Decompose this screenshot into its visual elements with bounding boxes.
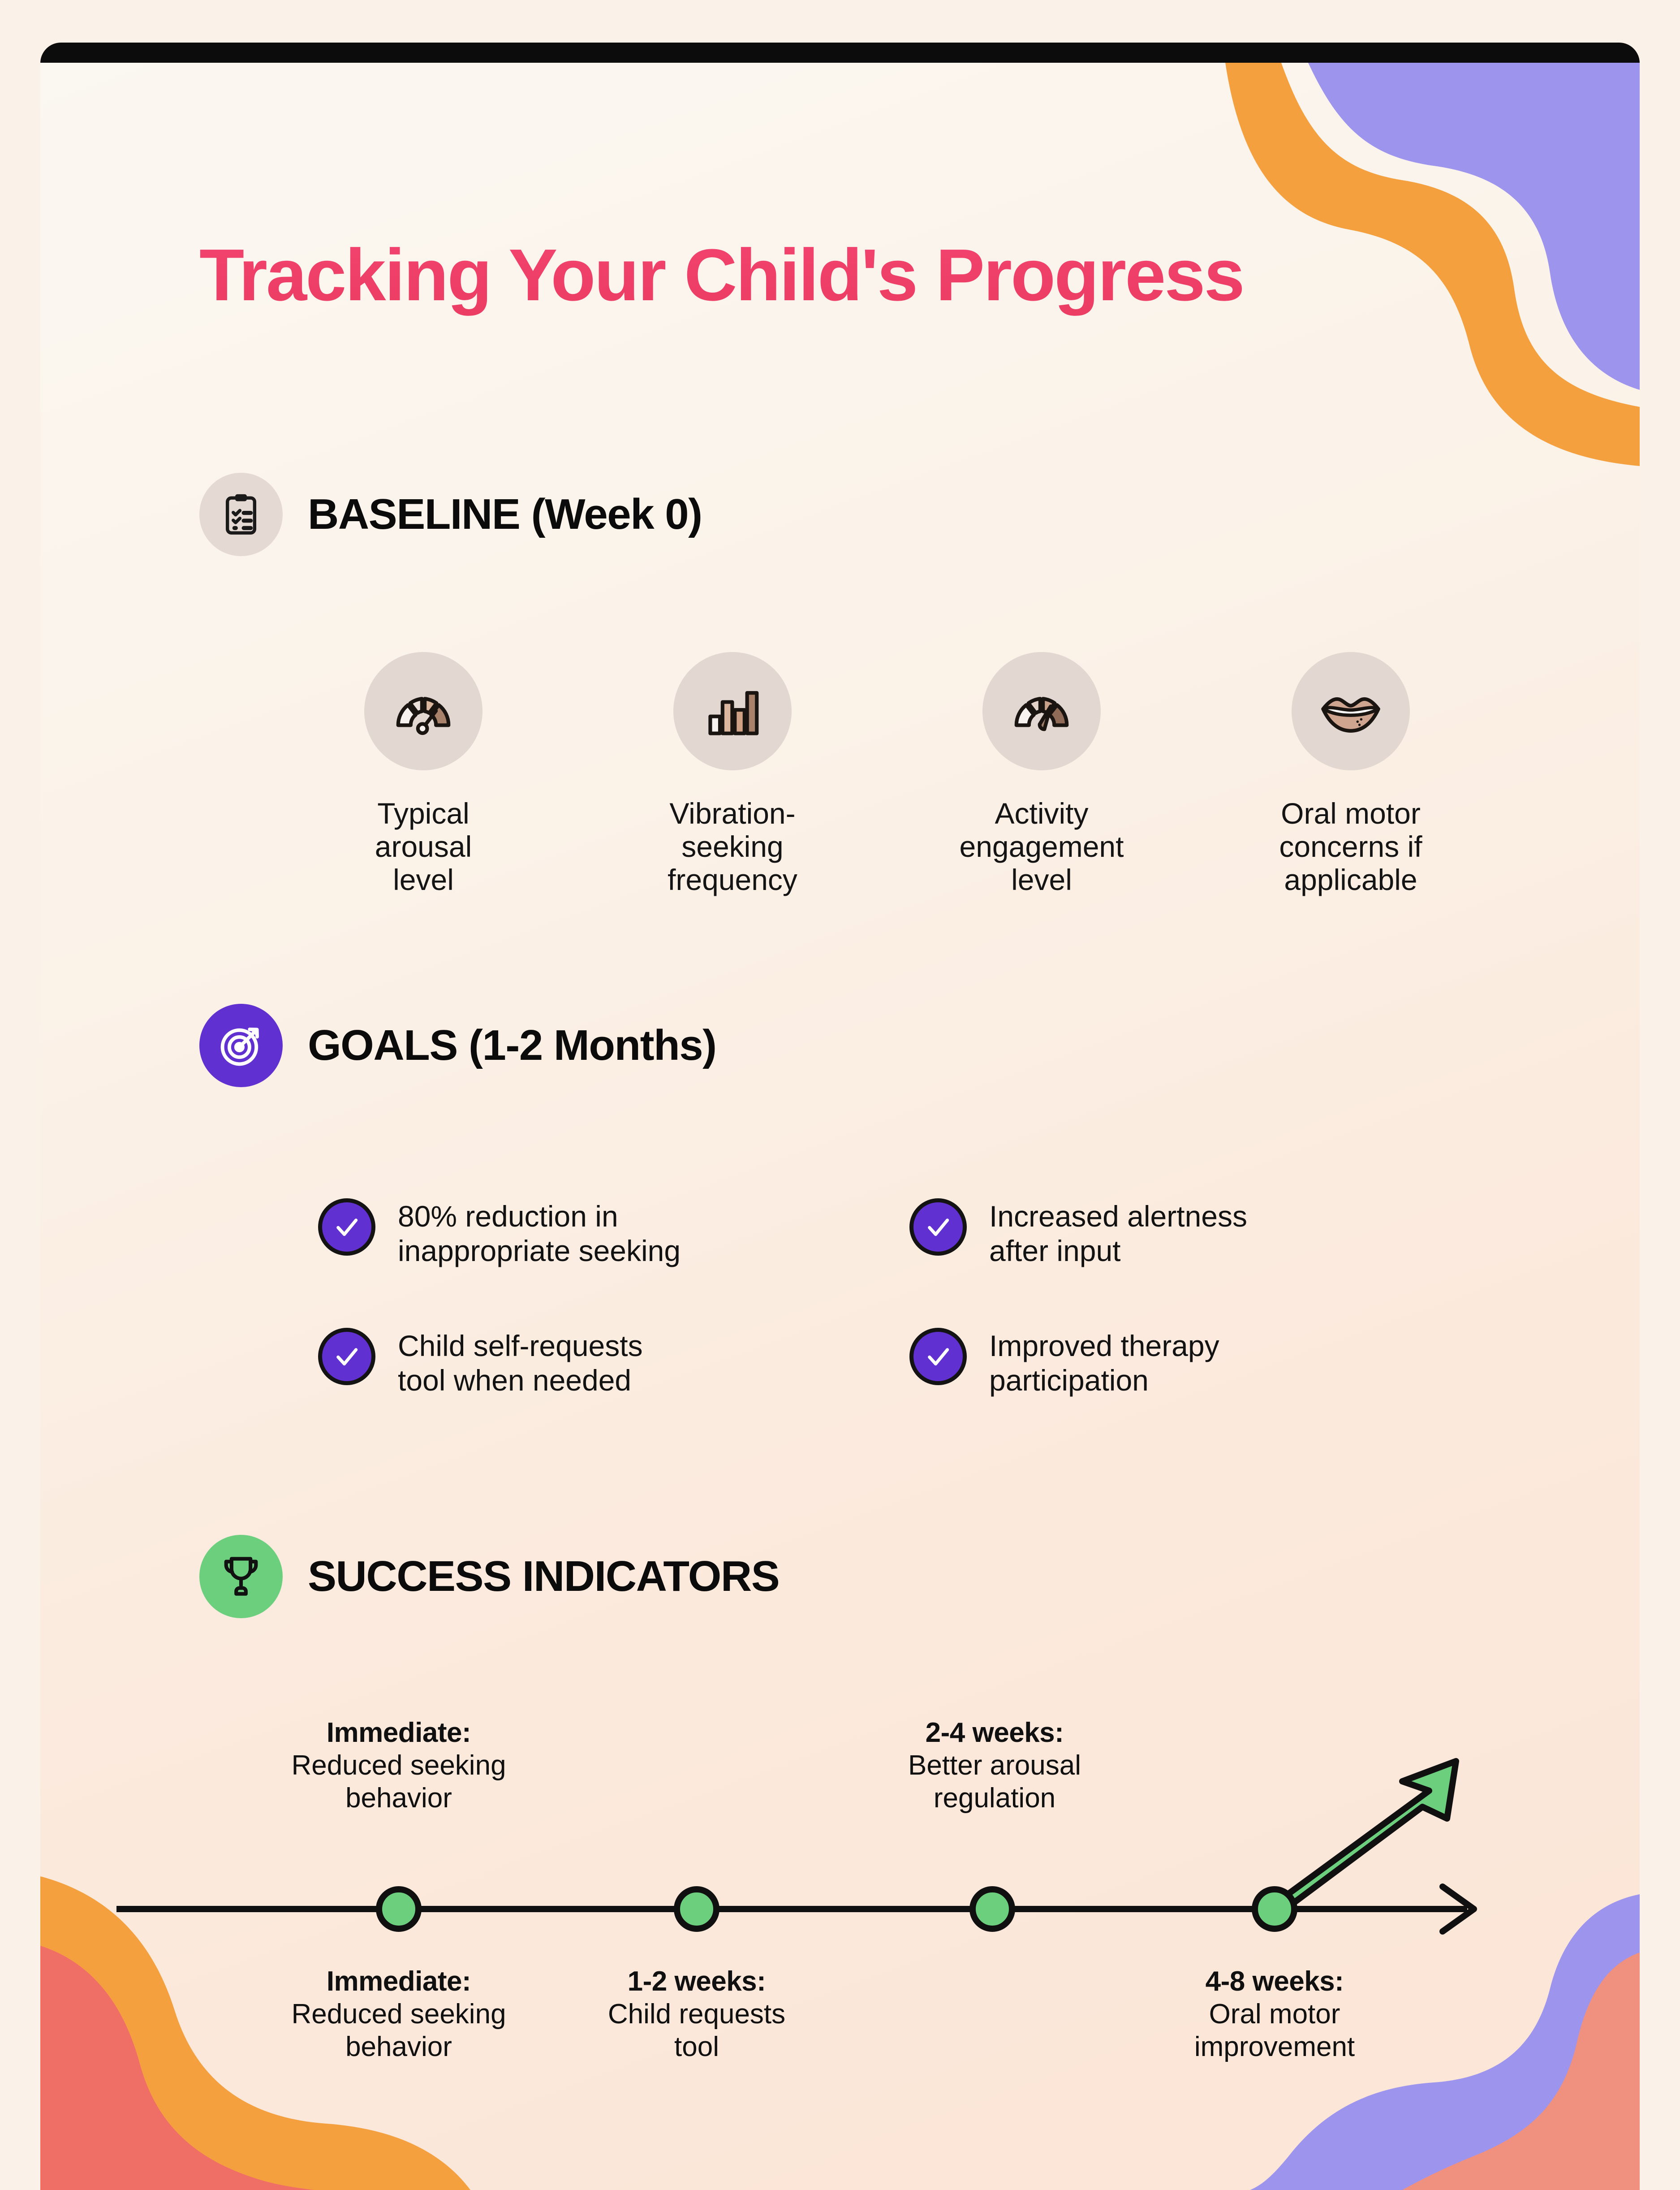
- timeline-milestone-title: 1-2 weeks:: [551, 1965, 842, 1998]
- timeline-milestone-title: Immediate:: [237, 1965, 560, 1998]
- growth-arrow-icon: [1270, 1761, 1456, 1917]
- baseline-item: Typical arousal level: [309, 652, 538, 897]
- goal-item: Child self-requests tool when needed: [318, 1326, 856, 1397]
- goal-text: Child self-requests tool when needed: [398, 1326, 643, 1397]
- timeline-milestone-title: Immediate:: [237, 1716, 560, 1749]
- timeline-milestone-below-2: 1-2 weeks: Child requests tool: [551, 1965, 842, 2063]
- baseline-items: Typical arousal level Vib: [309, 652, 1465, 897]
- baseline-item: Oral motor concerns if applicable: [1236, 652, 1465, 897]
- target-arrow-icon: [199, 1004, 283, 1087]
- goal-item: Improved therapy participation: [909, 1326, 1447, 1397]
- timeline-milestone-below-3: 4-8 weeks: Oral motor improvement: [1113, 1965, 1436, 2063]
- goal-item: Increased alertness after input: [909, 1197, 1447, 1268]
- timeline-milestone-below-1: Immediate: Reduced seeking behavior: [237, 1965, 560, 2063]
- poster-card: Tracking Your Child's Progress BASELINE …: [40, 63, 1640, 2190]
- timeline-dot: [677, 1889, 716, 1929]
- section-title-goals: GOALS (1-2 Months): [308, 1021, 716, 1070]
- timeline-milestone-title: 2-4 weeks:: [838, 1716, 1151, 1749]
- timeline-milestone-body: Child requests tool: [551, 1998, 842, 2063]
- lips-icon: [1292, 652, 1410, 770]
- success-timeline: Immediate: Reduced seeking behavior 2-4 …: [40, 1703, 1640, 2115]
- timeline-dot: [973, 1889, 1012, 1929]
- section-title-baseline: BASELINE (Week 0): [308, 490, 702, 539]
- timeline-milestone-body: Reduced seeking behavior: [237, 1998, 560, 2063]
- goal-text: Increased alertness after input: [989, 1197, 1247, 1268]
- timeline-milestone-title: 4-8 weeks:: [1113, 1965, 1436, 1998]
- speedometer-icon: [982, 652, 1101, 770]
- goal-text: 80% reduction in inappropriate seeking: [398, 1197, 681, 1268]
- timeline-milestone-above-2: 2-4 weeks: Better arousal regulation: [838, 1716, 1151, 1814]
- trophy-icon: [199, 1535, 283, 1618]
- infographic-poster: Tracking Your Child's Progress BASELINE …: [0, 0, 1680, 2190]
- timeline-milestone-body: Reduced seeking behavior: [237, 1749, 560, 1814]
- gauge-icon: [364, 652, 482, 770]
- baseline-item-label: Vibration- seeking frequency: [668, 797, 797, 897]
- timeline-dot: [1255, 1889, 1294, 1929]
- page-title: Tracking Your Child's Progress: [199, 233, 1244, 317]
- timeline-milestone-above-1: Immediate: Reduced seeking behavior: [237, 1716, 560, 1814]
- check-icon: [909, 1328, 967, 1385]
- section-header-goals: GOALS (1-2 Months): [199, 1004, 716, 1087]
- baseline-item: Vibration- seeking frequency: [618, 652, 847, 897]
- goal-text: Improved therapy participation: [989, 1326, 1219, 1397]
- baseline-item-label: Oral motor concerns if applicable: [1279, 797, 1422, 897]
- baseline-item-label: Activity engagement level: [960, 797, 1124, 897]
- section-header-success: SUCCESS INDICATORS: [199, 1535, 779, 1618]
- goals-list: 80% reduction in inappropriate seeking I…: [318, 1197, 1447, 1397]
- timeline-dot: [379, 1889, 418, 1929]
- check-icon: [318, 1328, 375, 1385]
- bar-chart-icon: [673, 652, 792, 770]
- check-icon: [318, 1198, 375, 1256]
- timeline-milestone-body: Oral motor improvement: [1113, 1998, 1436, 2063]
- section-title-success: SUCCESS INDICATORS: [308, 1552, 779, 1601]
- check-icon: [909, 1198, 967, 1256]
- baseline-item-label: Typical arousal level: [375, 797, 472, 897]
- section-header-baseline: BASELINE (Week 0): [199, 473, 702, 556]
- baseline-item: Activity engagement level: [927, 652, 1156, 897]
- timeline-milestone-body: Better arousal regulation: [838, 1749, 1151, 1814]
- goal-item: 80% reduction in inappropriate seeking: [318, 1197, 856, 1268]
- clipboard-checklist-icon: [199, 473, 283, 556]
